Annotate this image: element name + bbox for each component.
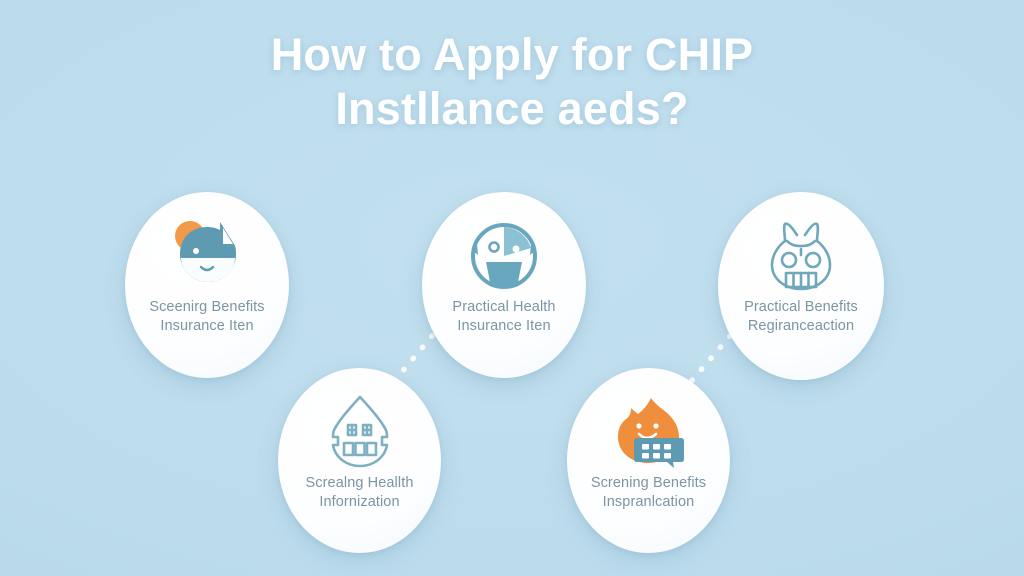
infographic-canvas: How to Apply for CHIP Instllance aeds? S… bbox=[0, 0, 1024, 576]
node-label: Screning Benefits Inspranlcation bbox=[583, 474, 714, 512]
node-label: Practical Health Insurance Iten bbox=[444, 298, 563, 336]
cat-outline-icon bbox=[757, 214, 845, 298]
node-screening-benefits[interactable]: Sceenirg Benefits Insurance Iten bbox=[125, 192, 289, 378]
animal-head-icon bbox=[163, 214, 251, 298]
node-label-line-1: Practical Health bbox=[452, 299, 555, 315]
node-label-line-2: Insurance Iten bbox=[452, 317, 555, 336]
node-label-line-2: Infornization bbox=[306, 493, 414, 512]
node-label-line-1: Screalng Heallth bbox=[306, 475, 414, 491]
node-label-line-2: Regiranceaction bbox=[744, 317, 858, 336]
node-screening-health[interactable]: Screalng Heallth Infornization bbox=[278, 368, 441, 553]
node-label-line-1: Screning Benefits bbox=[591, 475, 706, 491]
node-screening-benefits-application[interactable]: Screning Benefits Inspranlcation bbox=[567, 368, 730, 553]
node-label-line-2: Inspranlcation bbox=[591, 493, 706, 512]
node-label-line-2: Insurance Iten bbox=[149, 317, 264, 336]
node-practical-health[interactable]: Practical Health Insurance Iten bbox=[422, 192, 586, 378]
node-label: Sceenirg Benefits Insurance Iten bbox=[141, 298, 272, 336]
node-label-line-1: Practical Benefits bbox=[744, 299, 858, 315]
node-label: Screalng Heallth Infornization bbox=[298, 474, 422, 512]
connector-right bbox=[688, 336, 730, 385]
node-label: Practical Benefits Regiranceaction bbox=[736, 298, 866, 336]
smiling-face-icon bbox=[460, 214, 548, 298]
flame-chat-icon bbox=[605, 390, 693, 474]
node-practical-benefits[interactable]: Practical Benefits Regiranceaction bbox=[718, 192, 884, 380]
droplet-building-icon bbox=[316, 390, 404, 474]
node-label-line-1: Sceenirg Benefits bbox=[149, 299, 264, 315]
